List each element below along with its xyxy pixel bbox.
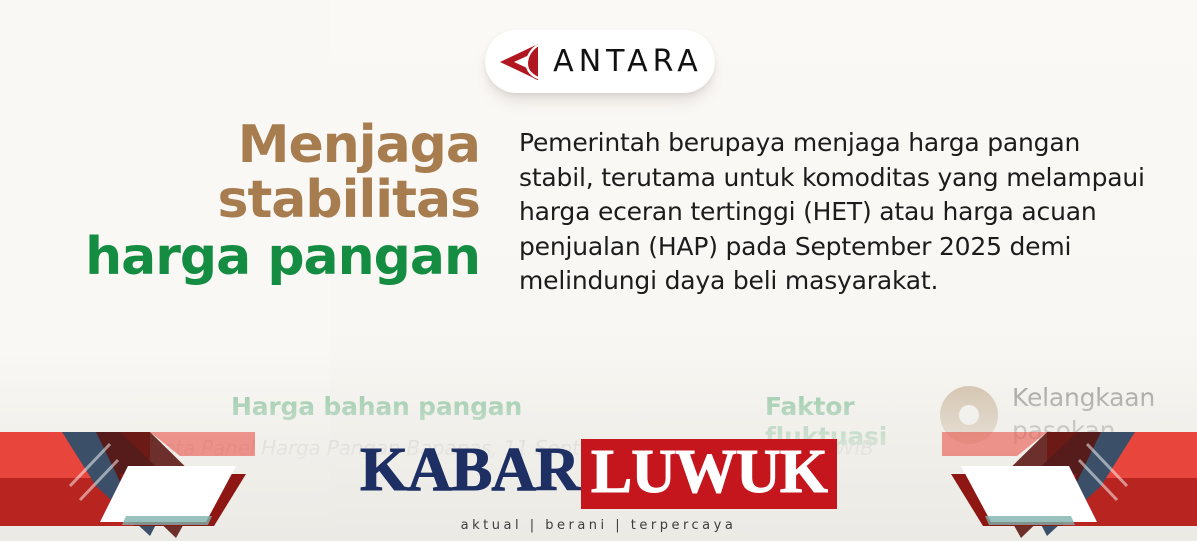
- watermark-wordmark: KABAR LUWUK: [409, 439, 789, 509]
- infographic-canvas: Harga bahan pangan Data Panel Harga Pang…: [0, 0, 1197, 541]
- watermark-word-kabar: KABAR: [360, 439, 581, 509]
- headline-line-1: Menjaga: [60, 118, 480, 173]
- antara-logo-badge[interactable]: ANTARA: [485, 30, 715, 93]
- page-title: Menjaga stabilitas harga pangan: [60, 118, 480, 285]
- flag-left-icon: [0, 426, 255, 541]
- headline-line-2: stabilitas: [60, 173, 480, 228]
- kabarluwuk-watermark[interactable]: KABAR LUWUK aktual | berani | terpercaya: [409, 439, 789, 533]
- watermark-word-luwuk: LUWUK: [581, 439, 837, 509]
- geometric-flag-decor-left: [0, 426, 255, 541]
- antara-triangle-logo-icon: [497, 42, 541, 82]
- geometric-flag-decor-right: [942, 426, 1197, 541]
- flag-right-icon: [942, 426, 1197, 541]
- watermark-tagline: aktual | berani | terpercaya: [409, 518, 789, 533]
- antara-wordmark: ANTARA: [553, 47, 703, 77]
- body-paragraph: Pemerintah berupaya menjaga harga pangan…: [519, 126, 1159, 299]
- headline-line-3: harga pangan: [60, 230, 480, 285]
